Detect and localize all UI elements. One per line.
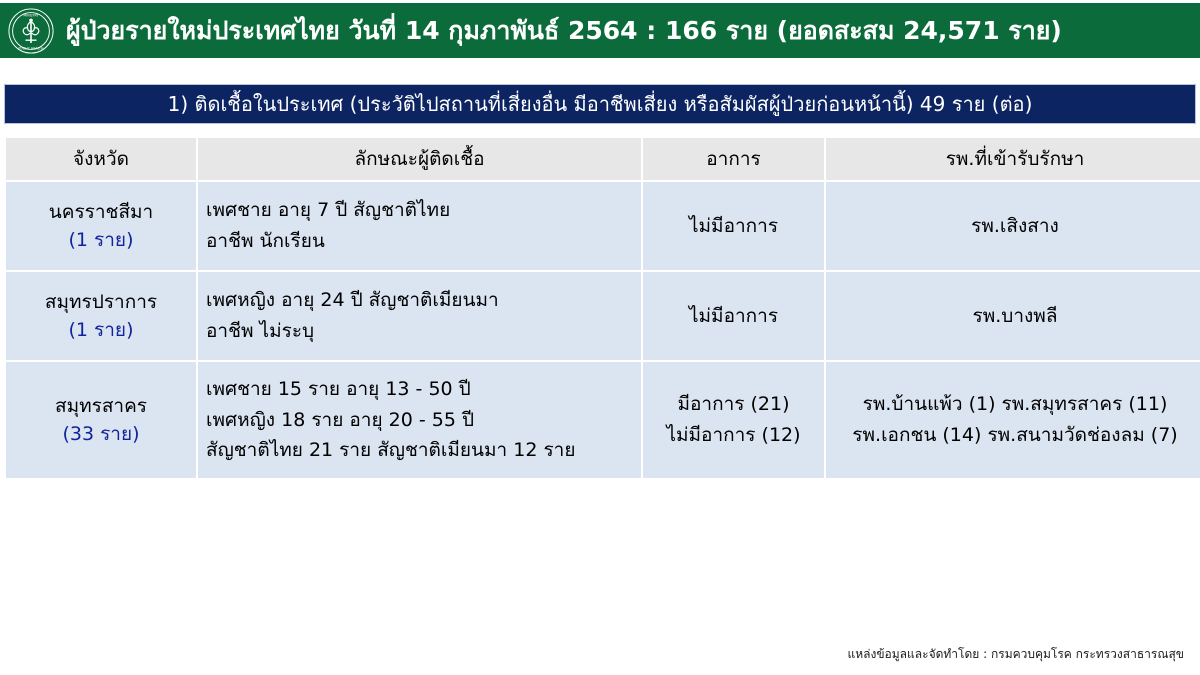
province-count: (33 ราย)	[14, 420, 188, 449]
detail-line: อาชีพ นักเรียน	[206, 226, 633, 257]
symptom-line: ไม่มีอาการ (12)	[651, 420, 816, 451]
hospital-line: รพ.เสิงสาง	[834, 211, 1196, 242]
symptom-line: มีอาการ (21)	[651, 389, 816, 420]
cell-hospital: รพ.บางพลี	[826, 272, 1200, 360]
table-header-row: จังหวัด ลักษณะผู้ติดเชื้อ อาการ รพ.ที่เข…	[6, 138, 1200, 180]
cell-detail: เพศหญิง อายุ 24 ปี สัญชาติเมียนมา อาชีพ …	[198, 272, 641, 360]
detail-line: อาชีพ ไม่ระบุ	[206, 316, 633, 347]
svg-text:MINISTRY: MINISTRY	[23, 13, 38, 17]
section-subtitle-bar: 1) ติดเชื้อในประเทศ (ประวัติไปสถานที่เสี…	[4, 84, 1196, 124]
cell-hospital: รพ.เสิงสาง	[826, 182, 1200, 270]
table-row: สมุทรสาคร (33 ราย) เพศชาย 15 ราย อายุ 13…	[6, 362, 1200, 478]
province-name: สมุทรสาคร	[14, 392, 188, 421]
cell-hospital: รพ.บ้านแพ้ว (1) รพ.สมุทรสาคร (11) รพ.เอก…	[826, 362, 1200, 478]
svg-text:PUBLIC HEALTH: PUBLIC HEALTH	[19, 46, 44, 50]
cell-detail: เพศชาย 15 ราย อายุ 13 - 50 ปี เพศหญิง 18…	[198, 362, 641, 478]
table-row: นครราชสีมา (1 ราย) เพศชาย อายุ 7 ปี สัญช…	[6, 182, 1200, 270]
detail-line: เพศชาย อายุ 7 ปี สัญชาติไทย	[206, 195, 633, 226]
hospital-line: รพ.บ้านแพ้ว (1) รพ.สมุทรสาคร (11)	[834, 389, 1196, 420]
table-row: สมุทรปราการ (1 ราย) เพศหญิง อายุ 24 ปี ส…	[6, 272, 1200, 360]
section-subtitle-text: 1) ติดเชื้อในประเทศ (ประวัติไปสถานที่เสี…	[168, 88, 1033, 120]
cell-symptom: ไม่มีอาการ	[643, 182, 824, 270]
detail-line: สัญชาติไทย 21 ราย สัญชาติเมียนมา 12 ราย	[206, 435, 633, 466]
province-count: (1 ราย)	[14, 316, 188, 345]
column-header-province: จังหวัด	[6, 138, 196, 180]
cell-symptom: มีอาการ (21) ไม่มีอาการ (12)	[643, 362, 824, 478]
cell-province: สมุทรสาคร (33 ราย)	[6, 362, 196, 478]
case-detail-table: จังหวัด ลักษณะผู้ติดเชื้อ อาการ รพ.ที่เข…	[4, 136, 1200, 480]
ministry-of-public-health-emblem-icon: MINISTRY PUBLIC HEALTH	[8, 8, 54, 54]
page-title: ผู้ป่วยรายใหม่ประเทศไทย วันที่ 14 กุมภาพ…	[66, 17, 1062, 45]
detail-line: เพศหญิง 18 ราย อายุ 20 - 55 ปี	[206, 405, 633, 436]
cell-province: นครราชสีมา (1 ราย)	[6, 182, 196, 270]
source-credit: แหล่งข้อมูลและจัดทำโดย : กรมควบคุมโรค กร…	[848, 645, 1185, 664]
symptom-line: ไม่มีอาการ	[651, 301, 816, 332]
page-header: MINISTRY PUBLIC HEALTH ผู้ป่วยรายใหม่ประ…	[0, 3, 1200, 58]
cell-symptom: ไม่มีอาการ	[643, 272, 824, 360]
hospital-line: รพ.บางพลี	[834, 301, 1196, 332]
hospital-line: รพ.เอกชน (14) รพ.สนามวัดช่องลม (7)	[834, 420, 1196, 451]
cell-detail: เพศชาย อายุ 7 ปี สัญชาติไทย อาชีพ นักเรี…	[198, 182, 641, 270]
province-count: (1 ราย)	[14, 226, 188, 255]
column-header-detail: ลักษณะผู้ติดเชื้อ	[198, 138, 641, 180]
province-name: นครราชสีมา	[14, 198, 188, 227]
detail-line: เพศชาย 15 ราย อายุ 13 - 50 ปี	[206, 374, 633, 405]
cell-province: สมุทรปราการ (1 ราย)	[6, 272, 196, 360]
column-header-symptom: อาการ	[643, 138, 824, 180]
symptom-line: ไม่มีอาการ	[651, 211, 816, 242]
detail-line: เพศหญิง อายุ 24 ปี สัญชาติเมียนมา	[206, 285, 633, 316]
province-name: สมุทรปราการ	[14, 288, 188, 317]
column-header-hospital: รพ.ที่เข้ารับรักษา	[826, 138, 1200, 180]
